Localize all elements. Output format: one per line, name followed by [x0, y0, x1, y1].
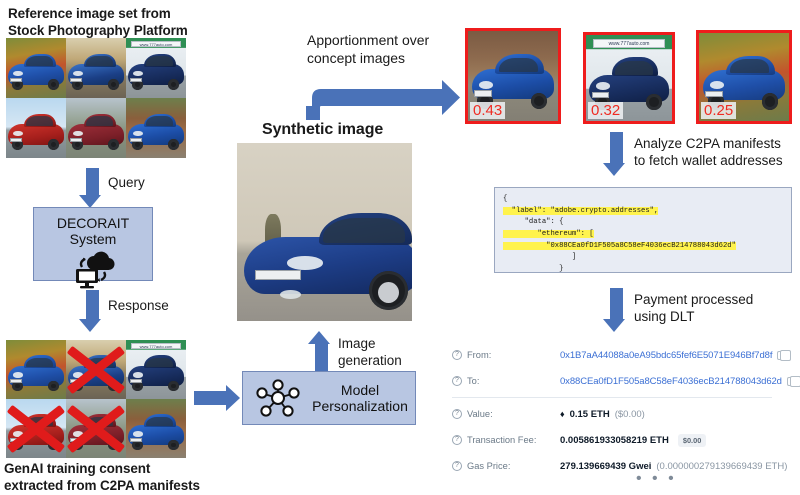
code-line-5: "0x88CEa0fD1F505a8C58eF4036ecB214788043d…: [503, 242, 736, 250]
car-illustration: [6, 38, 66, 98]
tx-fee-label: ? Transaction Fee:: [452, 435, 560, 445]
response-arrow: [80, 290, 106, 334]
tx-fee-label-text: Transaction Fee:: [467, 435, 536, 445]
synthetic-image: [237, 143, 412, 321]
payment-line-2: using DLT: [634, 309, 753, 326]
help-icon[interactable]: ?: [452, 376, 462, 386]
c2pa-manifest-code: { "label": "adobe.crypto.addresses", "da…: [494, 187, 792, 273]
consent-image-1: [6, 340, 66, 399]
tx-fee-value: 0.005861933058219 ETH: [560, 435, 669, 446]
tx-gas-label-text: Gas Price:: [467, 461, 510, 471]
consent-caption-line-1: GenAI training consent: [4, 461, 200, 478]
reference-image-5: [66, 98, 126, 158]
cloud-computer-sync-icon: [64, 250, 122, 290]
query-arrow-label: Query: [108, 175, 145, 192]
reference-set-caption: Reference image set from Stock Photograp…: [8, 6, 188, 40]
reference-image-4: [6, 98, 66, 158]
consent-caption-line-2: extracted from C2PA manifests: [4, 478, 200, 495]
consent-image-4: [6, 399, 66, 458]
consent-caption: GenAI training consent extracted from C2…: [4, 461, 200, 495]
help-icon[interactable]: ?: [452, 461, 462, 471]
concept-score: 0.25: [701, 102, 736, 119]
tx-value-fiat: ($0.00): [615, 409, 645, 420]
reference-image-1: [6, 38, 66, 98]
tx-fee-value-group: 0.005861933058219 ETH $0.00: [560, 434, 706, 447]
analyze-label: Analyze C2PA manifests to fetch wallet a…: [634, 136, 783, 170]
tx-gas-label: ? Gas Price:: [452, 461, 560, 471]
consent-image-3: www.777auto.com: [126, 340, 186, 399]
tx-from-label-text: From:: [467, 350, 491, 360]
ethereum-icon: ♦: [560, 409, 565, 419]
car-illustration: [66, 98, 126, 158]
to-address-link[interactable]: 0x88CEa0fD1F505a8C58eF4036ecB214788043d6…: [560, 376, 782, 387]
copy-icon[interactable]: [787, 377, 796, 386]
tx-row-fee: ? Transaction Fee: 0.005861933058219 ETH…: [452, 427, 800, 453]
from-address-link[interactable]: 0x1B7aA44088a0eA95bdc65fef6E5071E946Bf7d…: [560, 350, 772, 361]
figure-canvas: Reference image set from Stock Photograp…: [0, 0, 800, 495]
reference-image-2: [66, 38, 126, 98]
code-line-4: "ethereum": [: [503, 230, 594, 238]
payment-arrow: [604, 288, 630, 334]
payment-label: Payment processed using DLT: [634, 292, 753, 326]
code-line-6: ]: [503, 253, 576, 261]
tx-value-label: ? Value:: [452, 409, 560, 419]
tx-to-label-text: To:: [467, 376, 479, 386]
car-illustration: [126, 38, 186, 98]
tx-row-gas: ? Gas Price: 279.139669439 Gwei (0.00000…: [452, 453, 800, 479]
response-arrow-label: Response: [108, 298, 169, 315]
analyze-line-1: Analyze C2PA manifests: [634, 136, 783, 153]
apportionment-line-1: Apportionment over: [307, 32, 429, 50]
tx-from-value: 0x1B7aA44088a0eA95bdc65fef6E5071E946Bf7d…: [560, 350, 786, 361]
analyze-arrow: [604, 132, 630, 178]
tx-row-value: ? Value: ♦ 0.15 ETH ($0.00): [452, 401, 800, 427]
reference-image-grid: www.777auto.com: [6, 38, 186, 158]
car-illustration: [241, 186, 413, 321]
concept-image-1[interactable]: 0.43: [465, 28, 561, 124]
code-line-7: }: [503, 265, 563, 273]
help-icon[interactable]: ?: [452, 435, 462, 445]
image-generation-label: Image generation: [338, 336, 402, 370]
copy-icon[interactable]: [777, 351, 786, 360]
analyze-line-2: to fetch wallet addresses: [634, 153, 783, 170]
transaction-details: ? From: 0x1B7aA44088a0eA95bdc65fef6E5071…: [452, 342, 800, 479]
reference-caption-line-1: Reference image set from: [8, 6, 188, 23]
tx-from-label: ? From:: [452, 350, 560, 360]
network-nodes-icon: [251, 377, 305, 419]
consent-image-grid: www.777auto.com: [6, 340, 186, 458]
payment-line-1: Payment processed: [634, 292, 753, 309]
consent-image-2: [66, 340, 126, 399]
tx-row-to: ? To: 0x88CEa0fD1F505a8C58eF4036ecB21478…: [452, 368, 800, 394]
tx-row-from: ? From: 0x1B7aA44088a0eA95bdc65fef6E5071…: [452, 342, 800, 368]
decorait-system-title: DECORAIT System: [34, 215, 152, 247]
tx-value-amount-group: ♦ 0.15 ETH ($0.00): [560, 409, 645, 420]
tx-value-amount: 0.15 ETH: [570, 409, 610, 420]
concept-image-2[interactable]: www.777auto.com 0.32: [583, 32, 675, 124]
help-icon[interactable]: ?: [452, 350, 462, 360]
tx-to-value: 0x88CEa0fD1F505a8C58eF4036ecB214788043d6…: [560, 376, 796, 387]
code-line-2: "label": "adobe.crypto.addresses",: [503, 207, 658, 215]
tx-fee-chip: $0.00: [678, 434, 707, 447]
consent-to-model-arrow: [194, 384, 246, 412]
consent-image-5: [66, 399, 126, 458]
concept-image-3[interactable]: 0.25: [696, 30, 792, 124]
divider: [452, 397, 772, 398]
code-line-1: {: [503, 195, 507, 203]
code-line-3: "data": {: [503, 218, 563, 226]
concept-score: 0.43: [470, 102, 505, 119]
model-personalization-title: Model Personalization: [305, 382, 415, 414]
car-illustration: [66, 38, 126, 98]
consent-image-6: [126, 399, 186, 458]
apportionment-line-2: concept images: [307, 50, 429, 68]
synthetic-image-caption: Synthetic image: [262, 120, 383, 140]
image-generation-line-2: generation: [338, 353, 402, 370]
car-illustration: [6, 98, 66, 158]
concept-score: 0.32: [588, 102, 623, 119]
decorait-system-box[interactable]: DECORAIT System: [33, 207, 153, 281]
more-indicator: • • •: [636, 470, 677, 488]
reference-image-6: [126, 98, 186, 158]
tx-to-label: ? To:: [452, 376, 560, 386]
tx-value-label-text: Value:: [467, 409, 493, 419]
reference-image-3: www.777auto.com: [126, 38, 186, 98]
model-personalization-box[interactable]: Model Personalization: [242, 371, 416, 425]
car-illustration: [126, 98, 186, 158]
help-icon[interactable]: ?: [452, 409, 462, 419]
query-arrow: [80, 168, 106, 208]
model-title-line-1: Model: [305, 382, 415, 398]
apportionment-label: Apportionment over concept images: [307, 32, 429, 67]
model-title-line-2: Personalization: [305, 398, 415, 414]
image-generation-arrow: [309, 331, 335, 373]
fog-light: [280, 290, 301, 299]
apportionment-elbow-arrow: [306, 76, 462, 120]
image-generation-line-1: Image: [338, 336, 402, 353]
